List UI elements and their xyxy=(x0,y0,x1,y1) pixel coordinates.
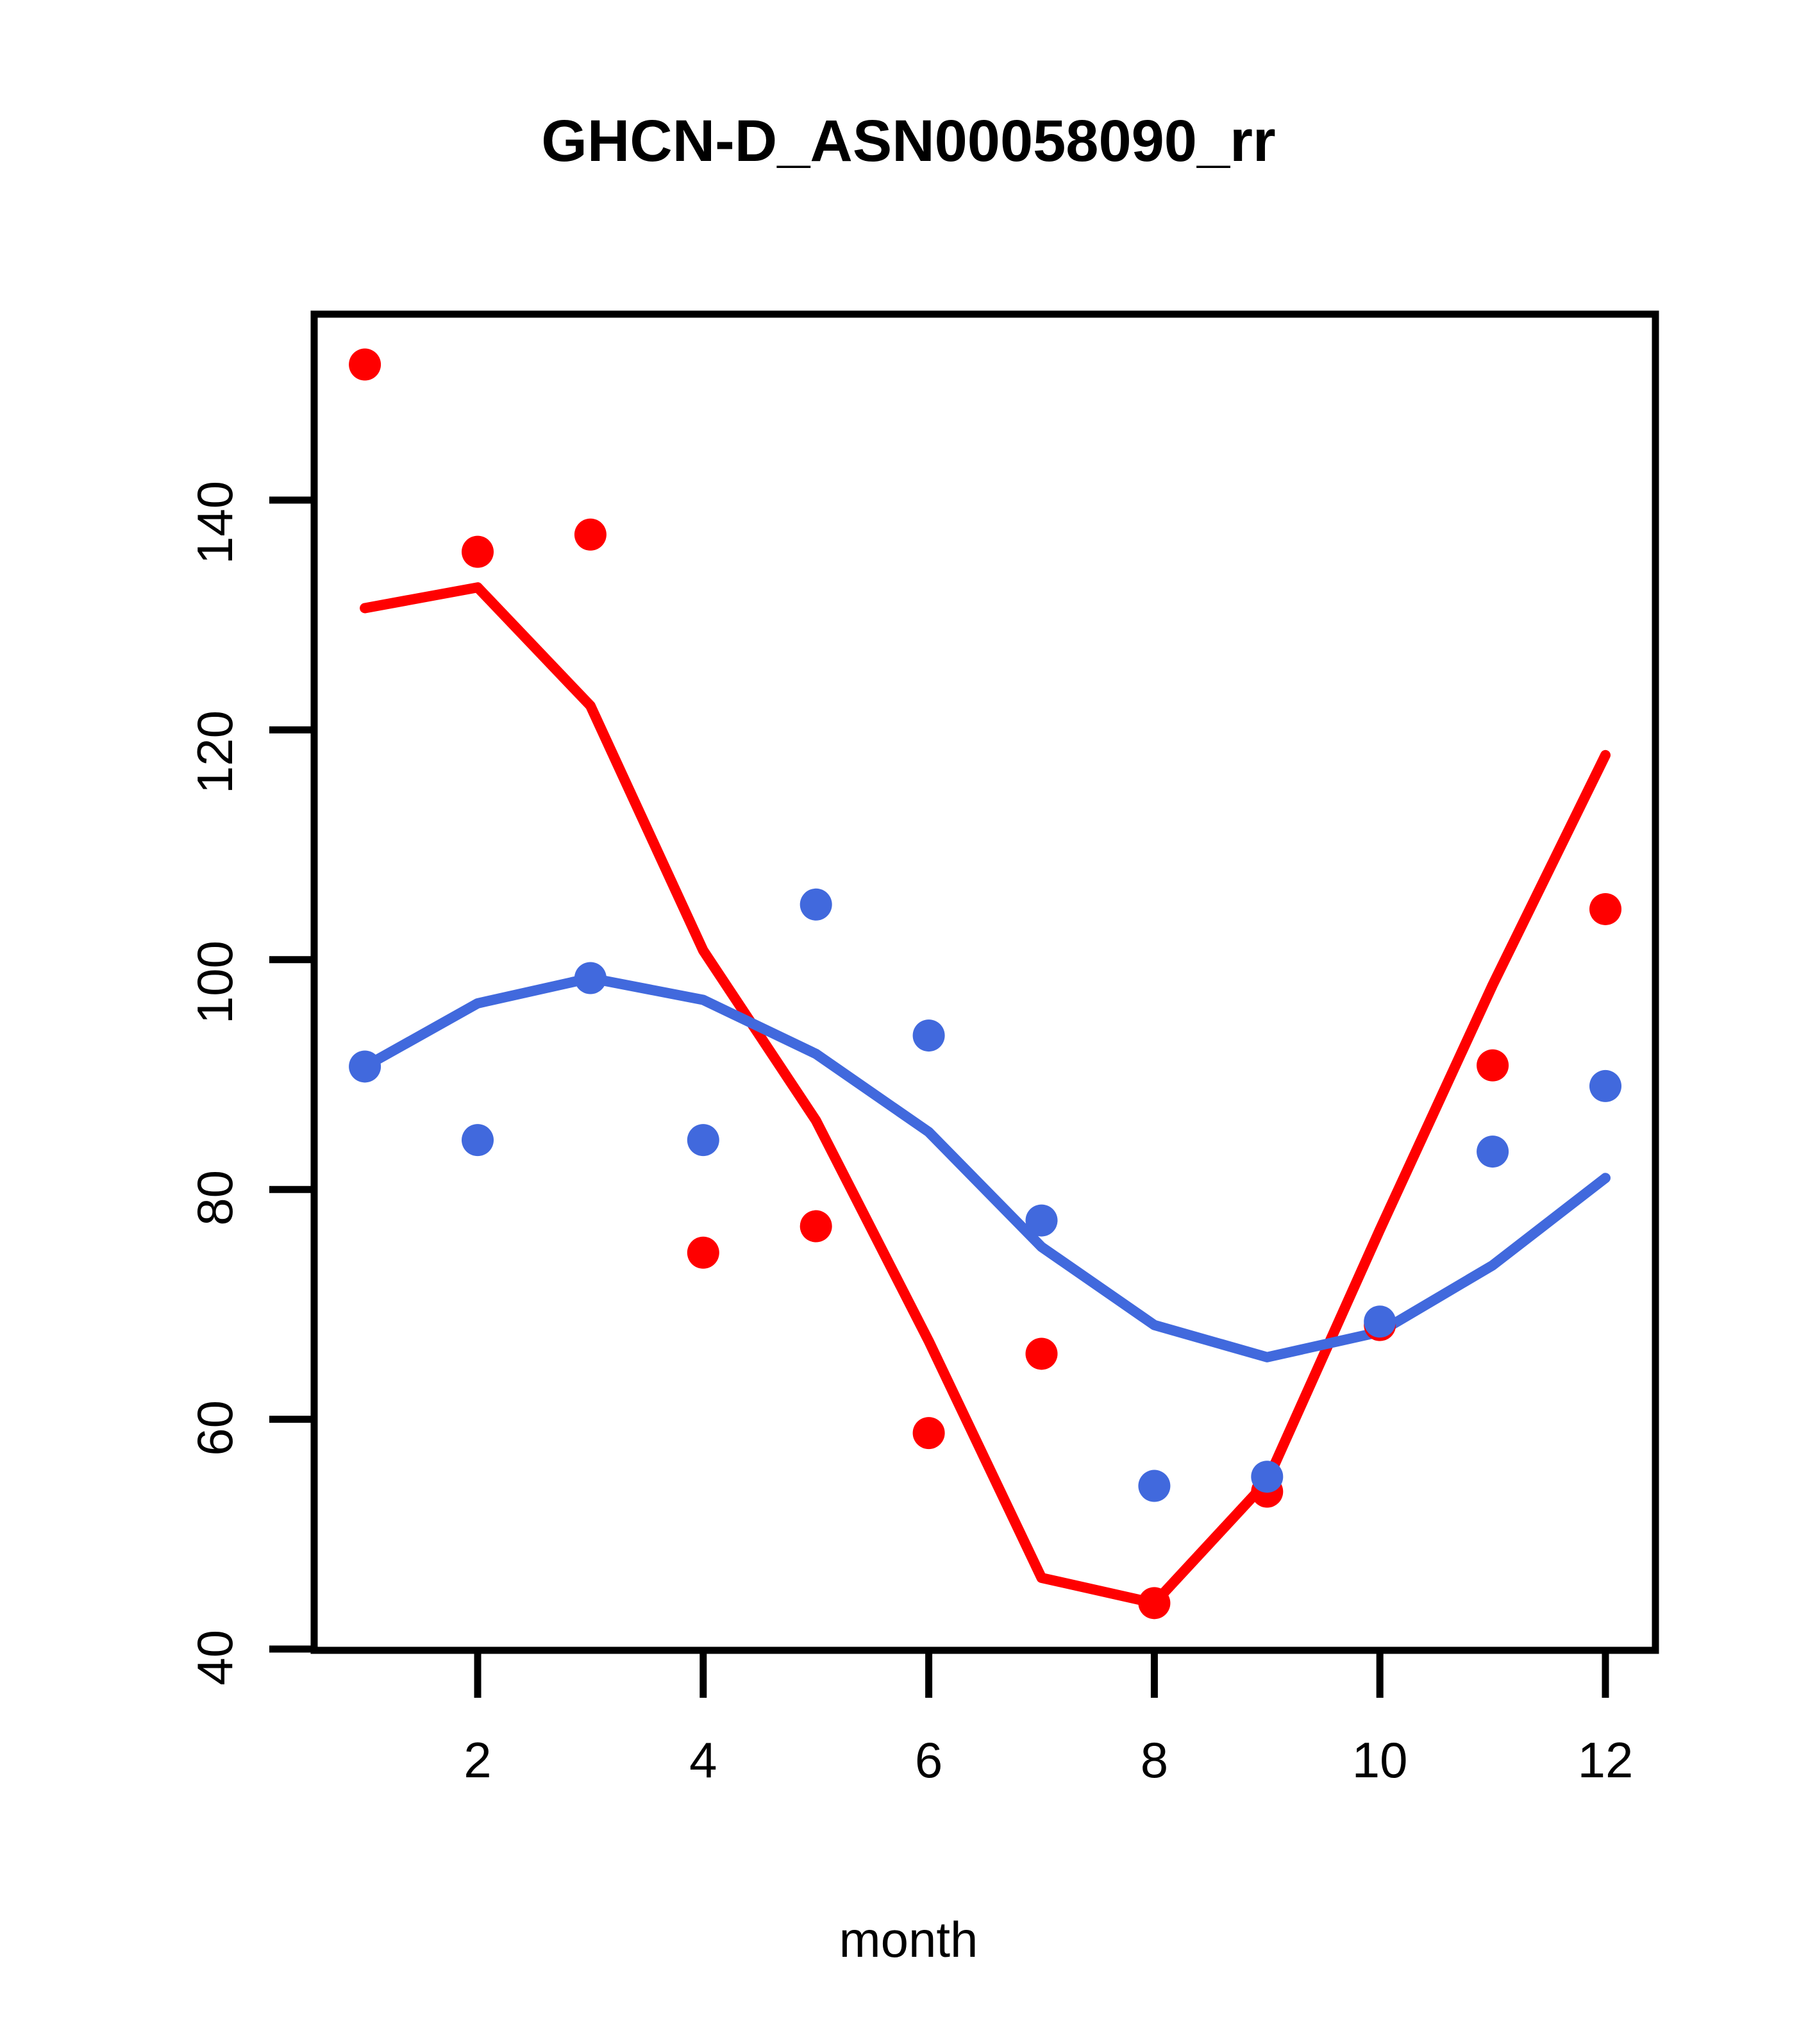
data-point-blue-points xyxy=(349,1050,381,1082)
data-point-red-points xyxy=(800,1210,832,1243)
data-point-blue-points xyxy=(1589,1070,1621,1102)
data-point-blue-points xyxy=(574,962,607,994)
data-point-red-points xyxy=(1589,893,1621,925)
data-point-blue-points xyxy=(1138,1470,1170,1502)
series-points xyxy=(349,349,1621,1620)
data-point-red-points xyxy=(1477,1050,1509,1082)
data-point-blue-points xyxy=(1026,1205,1058,1237)
y-axis-ticks xyxy=(269,500,314,1649)
series-lines xyxy=(365,587,1605,1603)
x-tick-label: 4 xyxy=(689,1731,717,1789)
data-point-blue-points xyxy=(800,889,832,921)
data-point-blue-points xyxy=(913,1019,945,1051)
data-point-red-points xyxy=(913,1417,945,1449)
x-tick-label: 2 xyxy=(464,1731,491,1789)
data-point-blue-points xyxy=(687,1124,719,1156)
x-tick-label: 10 xyxy=(1352,1731,1408,1789)
y-tick-label: 60 xyxy=(186,1400,244,1631)
y-tick-label: 40 xyxy=(186,1630,244,1861)
plot-area-svg xyxy=(0,0,1817,2044)
x-tick-label: 6 xyxy=(915,1731,942,1789)
series-line-red-line xyxy=(365,587,1605,1603)
x-axis-ticks xyxy=(478,1650,1605,1698)
data-point-blue-points xyxy=(462,1124,494,1156)
data-point-red-points xyxy=(687,1237,719,1269)
x-axis-title: month xyxy=(0,1911,1817,1969)
data-point-red-points xyxy=(1026,1337,1058,1370)
data-point-blue-points xyxy=(1364,1305,1396,1337)
data-point-red-points xyxy=(349,349,381,381)
data-point-blue-points xyxy=(1251,1461,1283,1493)
y-tick-label: 80 xyxy=(186,1170,244,1401)
data-point-red-points xyxy=(1138,1587,1170,1619)
data-point-red-points xyxy=(574,519,607,551)
x-tick-label: 8 xyxy=(1141,1731,1168,1789)
data-point-blue-points xyxy=(1477,1135,1509,1168)
y-tick-label: 140 xyxy=(186,481,244,712)
y-tick-label: 120 xyxy=(186,710,244,941)
chart-container: GHCN-D_ASN00058090_rr 406080100120140 24… xyxy=(0,0,1817,2044)
data-point-red-points xyxy=(462,536,494,568)
series-line-blue-line xyxy=(365,978,1605,1357)
y-tick-label: 100 xyxy=(186,941,244,1171)
x-tick-label: 12 xyxy=(1578,1731,1634,1789)
